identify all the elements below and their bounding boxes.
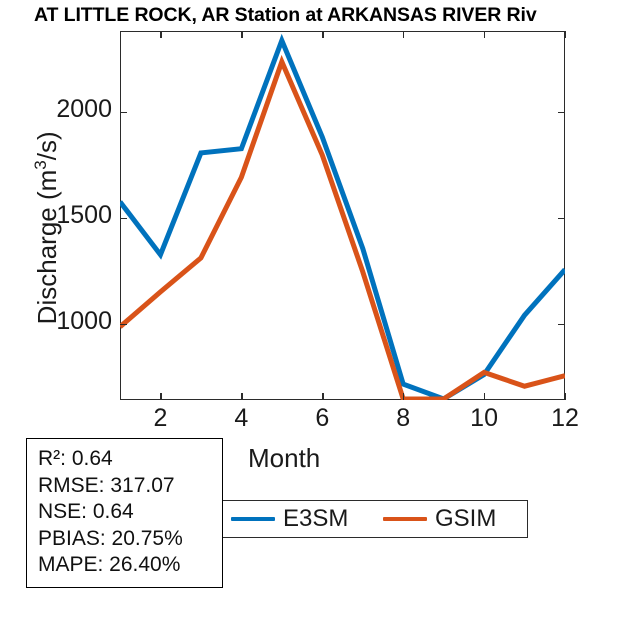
stat-r2: R²: 0.64 (38, 446, 222, 473)
y-tick-mark-2000 (120, 112, 127, 113)
x-tick-mark-10 (484, 393, 485, 400)
x-tick-label-6: 6 (292, 404, 352, 433)
legend-item-gsim[interactable]: GSIM (383, 501, 496, 537)
x-tick-label-10: 10 (454, 404, 514, 433)
y-axis-title-suffix: /s) (32, 131, 62, 160)
x-tick-mark-top-2 (160, 31, 161, 38)
legend-label-e3sm: E3SM (283, 505, 348, 533)
x-tick-mark-top-10 (484, 31, 485, 38)
x-tick-label-12: 12 (535, 404, 595, 433)
x-tick-mark-top-12 (565, 31, 566, 38)
series-line-gsim (120, 62, 565, 399)
plot-data-area (120, 31, 565, 400)
stat-r2-text: R²: 0.64 (38, 447, 113, 470)
stat-rmse: RMSE: 317.07 (38, 473, 222, 500)
y-tick-mark-right-2000 (558, 112, 565, 113)
chart-legend[interactable]: E3SM GSIM (222, 500, 528, 538)
legend-label-gsim: GSIM (435, 505, 496, 533)
stat-nse: NSE: 0.64 (38, 499, 222, 526)
y-axis-title-exponent: 3 (31, 160, 50, 169)
x-tick-mark-top-4 (241, 31, 242, 38)
y-axis-title-prefix: Discharge (m (32, 170, 62, 325)
chart-title: AT LITTLE ROCK, AR Station at ARKANSAS R… (34, 2, 625, 28)
x-tick-label-4: 4 (211, 404, 271, 433)
x-tick-mark-top-8 (403, 31, 404, 38)
x-tick-label-8: 8 (373, 404, 433, 433)
x-tick-mark-2 (160, 393, 161, 400)
y-tick-mark-1500 (120, 218, 127, 219)
y-tick-mark-1000 (120, 324, 127, 325)
figure-canvas: AT LITTLE ROCK, AR Station at ARKANSAS R… (0, 0, 625, 625)
legend-swatch-e3sm (231, 517, 275, 522)
x-tick-mark-6 (322, 393, 323, 400)
y-axis-title: Discharge (m3/s) (31, 63, 63, 393)
stats-annotation-box: R²: 0.64 RMSE: 317.07 NSE: 0.64 PBIAS: 2… (26, 438, 223, 588)
x-tick-mark-12 (565, 393, 566, 400)
x-tick-mark-8 (403, 393, 404, 400)
x-tick-label-2: 2 (130, 404, 190, 433)
x-tick-mark-4 (241, 393, 242, 400)
x-tick-mark-top-6 (322, 31, 323, 38)
legend-swatch-gsim (383, 517, 427, 522)
stat-mape: MAPE: 26.40% (38, 552, 222, 579)
x-axis-title: Month (248, 443, 320, 474)
legend-item-e3sm[interactable]: E3SM (231, 501, 348, 537)
stat-pbias: PBIAS: 20.75% (38, 526, 222, 553)
y-tick-mark-right-1000 (558, 324, 565, 325)
y-tick-mark-right-1500 (558, 218, 565, 219)
